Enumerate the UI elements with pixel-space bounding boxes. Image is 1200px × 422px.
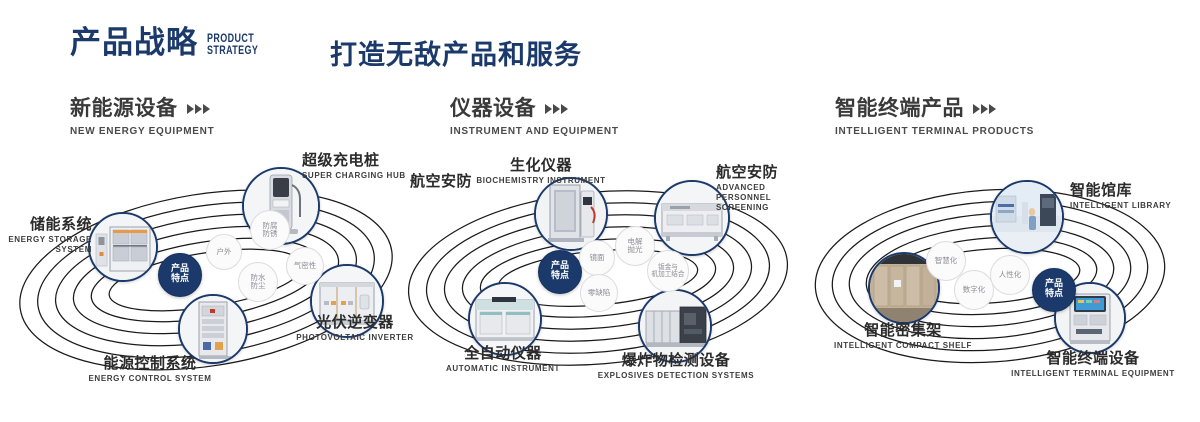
- product-label-biochemistry-instrument: 生化仪器 BIOCHEMISTRY INSTRUMENT: [458, 157, 624, 186]
- page-title-en-line1: PRODUCT: [207, 33, 258, 45]
- biochemistry-instrument-photo: [536, 179, 606, 249]
- feature-chip-waterproof-dustproof: 防水 防尘: [238, 262, 278, 302]
- section-title-new-energy: 新能源设备 NEW ENERGY EQUIPMENT: [70, 98, 214, 137]
- product-label-cn: 全自动仪器: [428, 345, 578, 362]
- product-label-intelligent-library: 智能馆库 INTELLIGENT LIBRARY: [1070, 182, 1171, 211]
- product-label-en: ENERGY CONTROL SYSTEM: [70, 374, 230, 384]
- page-title-en-line2: STRATEGY: [207, 45, 258, 57]
- section-title-cn: 智能终端产品: [835, 98, 964, 119]
- product-label-en: INTELLIGENT TERMINAL EQUIPMENT: [998, 369, 1188, 379]
- feature-chip-sheetmetal-machining: 钣金与 机加工结合: [647, 250, 689, 292]
- core-chip-line2: 特点: [551, 272, 569, 282]
- product-label-en: BIOCHEMISTRY INSTRUMENT: [458, 176, 624, 186]
- product-label-explosives-detection: 爆炸物检测设备 EXPLOSIVES DETECTION SYSTEMS: [596, 352, 756, 381]
- section-title-en: INTELLIGENT TERMINAL PRODUCTS: [835, 126, 1034, 137]
- product-label-automatic-instrument: 全自动仪器 AUTOMATIC INSTRUMENT: [428, 345, 578, 374]
- intelligent-library-photo: [992, 182, 1062, 252]
- page-title-en: PRODUCT STRATEGY: [207, 33, 258, 57]
- product-label-en: ENERGY STORAGE SYSTEM: [0, 235, 92, 255]
- section-title-cn: 仪器设备: [450, 98, 536, 119]
- core-chip-product-features: 产品 特点: [1032, 268, 1076, 312]
- product-label-cn: 生化仪器: [458, 157, 624, 174]
- feature-chip-humanization: 人性化: [990, 255, 1030, 295]
- product-label-super-charging-hub: 超级充电桩 SUPER CHARGING HUB: [302, 152, 406, 181]
- core-chip-line2: 特点: [1045, 290, 1063, 300]
- product-label-energy-storage: 储能系统 ENERGY STORAGE SYSTEM: [0, 216, 92, 255]
- page-title: 产品战略 PRODUCT STRATEGY: [70, 28, 273, 59]
- energy-control-photo: [180, 296, 246, 362]
- product-label-en: AUTOMATIC INSTRUMENT: [428, 364, 578, 374]
- cluster-intelligent-terminal-products: 智能馆库 INTELLIGENT LIBRARY 智能密集架 INTELLIGE…: [800, 152, 1200, 402]
- product-label-cn: 智能密集架: [818, 322, 988, 339]
- product-label-cn: 储能系统: [0, 216, 92, 233]
- section-title-intelligent-terminal: 智能终端产品 INTELLIGENT TERMINAL PRODUCTS: [835, 98, 1034, 137]
- core-chip-product-features: 产品 特点: [158, 253, 202, 297]
- product-label-intelligent-terminal-equipment: 智能终端设备 INTELLIGENT TERMINAL EQUIPMENT: [998, 350, 1188, 379]
- section-title-instrument: 仪器设备 INSTRUMENT AND EQUIPMENT: [450, 98, 619, 137]
- page-title-cn: 产品战略: [70, 28, 198, 59]
- product-label-cn: 智能终端设备: [998, 350, 1188, 367]
- cluster-instrument-and-equipment: 生化仪器 BIOCHEMISTRY INSTRUMENT 航空安防 航空安: [398, 152, 798, 402]
- chevrons-right-icon: [545, 104, 568, 114]
- product-label-cn: 超级充电桩: [302, 152, 406, 169]
- page-slogan: 打造无敌产品和服务: [330, 33, 582, 72]
- energy-storage-photo: [90, 214, 156, 280]
- chevrons-right-icon: [187, 104, 210, 114]
- product-label-cn: 航空安防: [410, 173, 472, 190]
- product-label-cn: 爆炸物检测设备: [596, 352, 756, 369]
- feature-chip-outdoor: 户外: [206, 234, 242, 270]
- product-label-energy-control-system: 能源控制系统 ENERGY CONTROL SYSTEM: [70, 355, 230, 384]
- feature-chip-anticorrosion: 防腐 防锈: [250, 210, 290, 250]
- product-label-en: INTELLIGENT COMPACT SHELF: [818, 341, 988, 351]
- feature-chip-airtightness: 气密性: [286, 247, 324, 285]
- product-node-intelligent-library[interactable]: [990, 180, 1064, 254]
- core-chip-product-features: 产品 特点: [538, 250, 582, 294]
- core-chip-line2: 特点: [171, 275, 189, 285]
- product-label-intelligent-compact-shelf: 智能密集架 INTELLIGENT COMPACT SHELF: [818, 322, 988, 351]
- product-label-cn: 能源控制系统: [70, 355, 230, 372]
- product-label-aviation-security-left: 航空安防: [410, 173, 472, 190]
- cluster-new-energy-equipment: 储能系统 ENERGY STORAGE SYSTEM 超级充电桩 SUPER C…: [10, 152, 410, 402]
- feature-chip-mirror-finish: 镜面: [579, 240, 615, 276]
- chevrons-right-icon: [973, 104, 996, 114]
- product-label-cn: 智能馆库: [1070, 182, 1171, 199]
- product-label-en: EXPLOSIVES DETECTION SYSTEMS: [596, 371, 756, 381]
- product-label-en: SUPER CHARGING HUB: [302, 171, 406, 181]
- product-node-energy-storage[interactable]: [88, 212, 158, 282]
- feature-chip-zero-defect: 零缺陷: [580, 274, 618, 312]
- feature-chip-digitalization: 数字化: [954, 270, 994, 310]
- product-strategy-infographic: 产品战略 PRODUCT STRATEGY 打造无敌产品和服务 新能源设备 NE…: [0, 0, 1200, 422]
- section-title-cn: 新能源设备: [70, 98, 178, 119]
- product-label-en: INTELLIGENT LIBRARY: [1070, 201, 1171, 211]
- section-title-en: INSTRUMENT AND EQUIPMENT: [450, 126, 619, 137]
- section-title-en: NEW ENERGY EQUIPMENT: [70, 126, 214, 137]
